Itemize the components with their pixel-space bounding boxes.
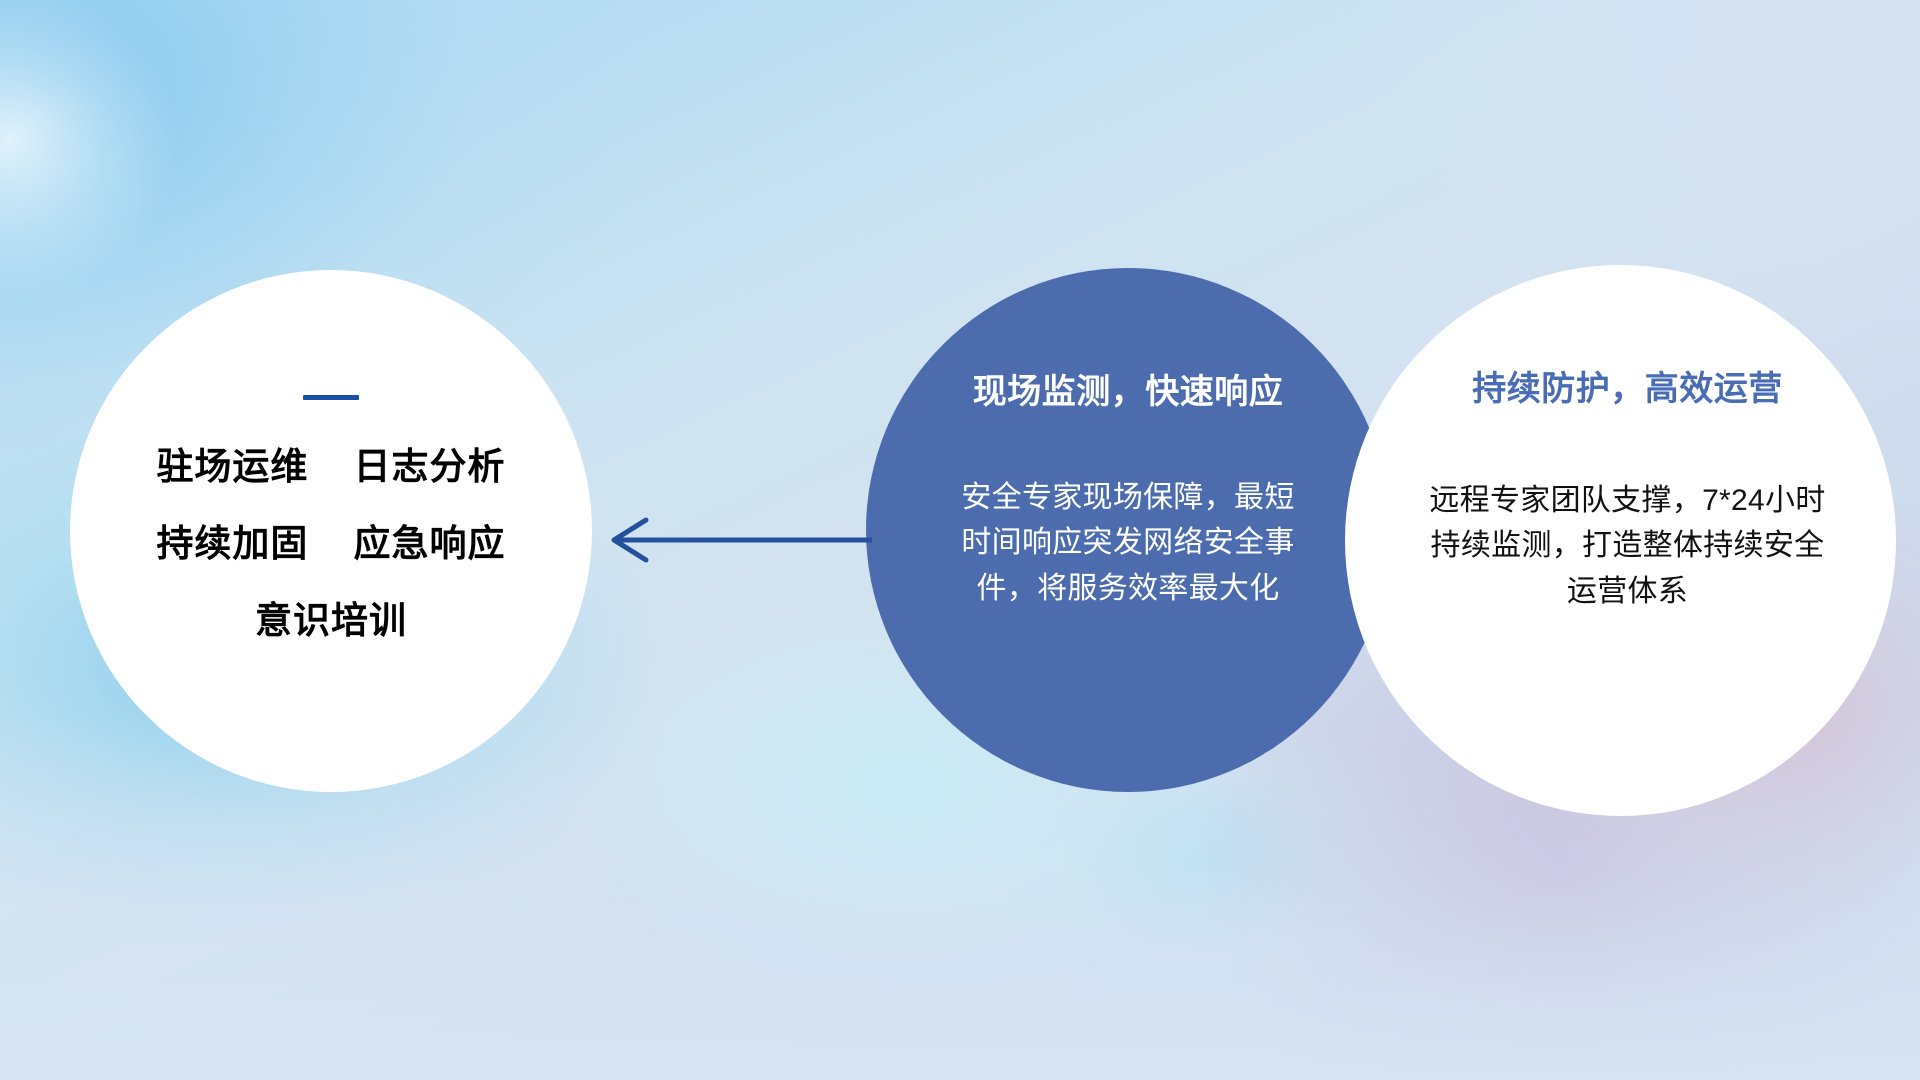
slide-canvas: 驻场运维 日志分析 持续加固 应急响应 意识培训 现场监测，快速响应 安全专家现… <box>0 0 1920 1080</box>
capability-circle: 驻场运维 日志分析 持续加固 应急响应 意识培训 <box>70 270 592 792</box>
onsite-monitoring-body: 安全专家现场保障，最短时间响应突发网络安全事件，将服务效率最大化 <box>948 475 1308 612</box>
capability-line-3: 意识培训 <box>255 602 407 639</box>
onsite-monitoring-circle: 现场监测，快速响应 安全专家现场保障，最短时间响应突发网络安全事件，将服务效率最… <box>866 268 1390 792</box>
onsite-monitoring-title: 现场监测，快速响应 <box>973 372 1284 413</box>
divider-rule <box>303 395 359 400</box>
continuous-protection-body: 远程专家团队支撑，7*24小时持续监测，打造整体持续安全运营体系 <box>1428 478 1828 615</box>
flow-arrow-left <box>600 512 872 568</box>
capability-line-2: 持续加固 应急响应 <box>156 525 505 562</box>
continuous-protection-circle: 持续防护，高效运营 远程专家团队支撑，7*24小时持续监测，打造整体持续安全运营… <box>1345 265 1896 816</box>
capability-line-1: 驻场运维 日志分析 <box>156 448 505 485</box>
continuous-protection-title: 持续防护，高效运营 <box>1472 369 1783 410</box>
